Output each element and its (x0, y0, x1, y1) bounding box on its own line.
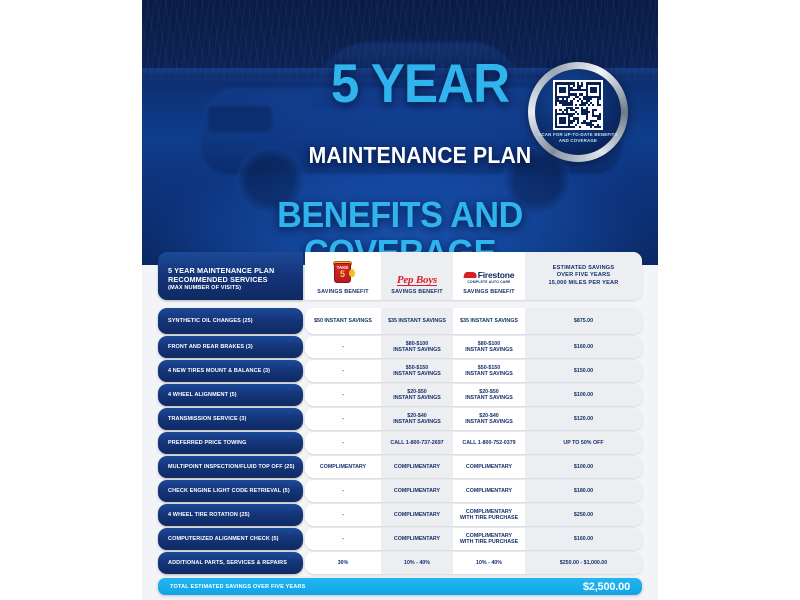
cell-take5: - (305, 360, 381, 382)
hero-title-sub: MAINTENANCE PLAN (284, 143, 556, 167)
table-row: FRONT AND REAR BRAKES (3)-$80-$100INSTAN… (142, 336, 658, 358)
cell-estimated-savings: $150.00 (525, 360, 642, 382)
table-row: TRANSMISSION SERVICE (3)-$20-$40INSTANT … (142, 408, 658, 430)
row-service-label: PREFERRED PRICE TOWING (158, 432, 303, 454)
cell-firestone: COMPLIMENTARY (453, 480, 525, 502)
row-service-label: COMPUTERIZED ALIGNMENT CHECK (5) (158, 528, 303, 550)
table-row: SYNTHETIC OIL CHANGES (25)$50 INSTANT SA… (142, 308, 658, 334)
table-row: PREFERRED PRICE TOWING-CALL 1-800-737-26… (142, 432, 658, 454)
table-row: CHECK ENGINE LIGHT CODE RETRIEVAL (5)-CO… (142, 480, 658, 502)
cell-pepboys: 10% - 40% (381, 552, 453, 574)
cell-pepboys: $20-$40INSTANT SAVINGS (381, 408, 453, 430)
header-col-estimated-savings: ESTIMATED SAVINGS OVER FIVE YEARS 15,000… (525, 252, 642, 300)
total-savings-label: TOTAL ESTIMATED SAVINGS OVER FIVE YEARS (170, 584, 306, 590)
cell-take5: - (305, 528, 381, 550)
row-values: -CALL 1-800-737-2697CALL 1-800-752-0379U… (305, 432, 642, 454)
row-values: -$20-$50INSTANT SAVINGS$20-$50INSTANT SA… (305, 384, 642, 406)
cell-firestone: COMPLIMENTARYWITH TIRE PURCHASE (453, 528, 525, 550)
header-caption-firestone: SAVINGS BENEFIT (463, 289, 514, 295)
row-values: COMPLIMENTARYCOMPLIMENTARYCOMPLIMENTARY$… (305, 456, 642, 478)
table-row: 4 NEW TIRES MOUNT & BALANCE (3)-$50-$150… (142, 360, 658, 382)
row-values: -COMPLIMENTARYCOMPLIMENTARYWITH TIRE PUR… (305, 504, 642, 526)
header-service-line2: RECOMMENDED SERVICES (168, 275, 268, 284)
row-service-label: 4 NEW TIRES MOUNT & BALANCE (3) (158, 360, 303, 382)
cell-firestone: 10% - 40% (453, 552, 525, 574)
cell-pepboys: COMPLIMENTARY (381, 480, 453, 502)
cell-pepboys: COMPLIMENTARY (381, 528, 453, 550)
cell-firestone: $20-$40INSTANT SAVINGS (453, 408, 525, 430)
header-col-firestone: Firestone COMPLETE AUTO CARE SAVINGS BEN… (453, 252, 525, 300)
cell-take5: - (305, 336, 381, 358)
cell-estimated-savings: $100.00 (525, 456, 642, 478)
table-row: ADDITIONAL PARTS, SERVICES & REPAIRS30%1… (142, 552, 658, 574)
header-service-column: 5 YEAR MAINTENANCE PLAN RECOMMENDED SERV… (158, 252, 303, 300)
header-caption-pepboys: SAVINGS BENEFIT (391, 289, 442, 295)
row-service-label: SYNTHETIC OIL CHANGES (25) (158, 308, 303, 334)
table-header-row: 5 YEAR MAINTENANCE PLAN RECOMMENDED SERV… (142, 252, 658, 300)
row-values: -$50-$150INSTANT SAVINGS$50-$150INSTANT … (305, 360, 642, 382)
cell-take5: - (305, 432, 381, 454)
header-caption-estimated-savings: ESTIMATED SAVINGS OVER FIVE YEARS 15,000… (548, 265, 618, 287)
cell-estimated-savings: $160.00 (525, 528, 642, 550)
cell-firestone: COMPLIMENTARY (453, 456, 525, 478)
cell-pepboys: COMPLIMENTARY (381, 456, 453, 478)
row-values: -$80-$100INSTANT SAVINGS$80-$100INSTANT … (305, 336, 642, 358)
table-row: MULTIPOINT INSPECTION/FLUID TOP OFF (25)… (142, 456, 658, 478)
cell-pepboys: $80-$100INSTANT SAVINGS (381, 336, 453, 358)
row-service-label: CHECK ENGINE LIGHT CODE RETRIEVAL (5) (158, 480, 303, 502)
cell-estimated-savings: $180.00 (525, 480, 642, 502)
cell-take5: - (305, 504, 381, 526)
firestone-logo-word: Firestone (478, 272, 514, 278)
row-values: -$20-$40INSTANT SAVINGS$20-$40INSTANT SA… (305, 408, 642, 430)
cell-take5: 30% (305, 552, 381, 574)
table-row: 4 WHEEL TIRE ROTATION (25)-COMPLIMENTARY… (142, 504, 658, 526)
row-values: $50 INSTANT SAVINGS$35 INSTANT SAVINGS$3… (305, 308, 642, 334)
take5-logo-number: 5 (335, 270, 350, 279)
row-service-label: ADDITIONAL PARTS, SERVICES & REPAIRS (158, 552, 303, 574)
header-provider-columns: TAKE 5 SAVINGS BENEFIT Pep Boys SAVINGS … (305, 252, 642, 300)
total-savings-value: $2,500.00 (583, 581, 630, 593)
take-5-oil-change-logo-icon: TAKE 5 (330, 260, 356, 286)
row-values: 30%10% - 40%10% - 40%$250.00 - $1,000.00 (305, 552, 642, 574)
row-values: -COMPLIMENTARYCOMPLIMENTARY$180.00 (305, 480, 642, 502)
firestone-logo-icon: Firestone COMPLETE AUTO CARE (464, 272, 514, 285)
header-service-line1: 5 YEAR MAINTENANCE PLAN (168, 266, 274, 275)
row-service-label: TRANSMISSION SERVICE (3) (158, 408, 303, 430)
cell-estimated-savings: $250.00 (525, 504, 642, 526)
hero-banner: 5 YEAR MAINTENANCE PLAN BENEFITS AND COV… (142, 0, 658, 265)
hero-title-main: 5 YEAR (299, 56, 541, 110)
cell-estimated-savings: $120.00 (525, 408, 642, 430)
cell-firestone: $35 INSTANT SAVINGS (453, 308, 525, 334)
qr-code-icon[interactable] (553, 80, 603, 130)
firestone-swoosh-icon (463, 272, 477, 278)
pep-boys-logo-icon: Pep Boys (397, 277, 437, 285)
cell-pepboys: COMPLIMENTARY (381, 504, 453, 526)
cell-estimated-savings: $100.00 (525, 384, 642, 406)
cell-take5: - (305, 384, 381, 406)
table-row: 4 WHEEL ALIGNMENT (5)-$20-$50INSTANT SAV… (142, 384, 658, 406)
cell-firestone: CALL 1-800-752-0379 (453, 432, 525, 454)
cell-pepboys: $20-$50INSTANT SAVINGS (381, 384, 453, 406)
cell-take5: COMPLIMENTARY (305, 456, 381, 478)
row-service-label: 4 WHEEL ALIGNMENT (5) (158, 384, 303, 406)
maintenance-plan-poster: 5 YEAR MAINTENANCE PLAN BENEFITS AND COV… (142, 0, 658, 600)
total-savings-bar: TOTAL ESTIMATED SAVINGS OVER FIVE YEARS … (158, 578, 642, 595)
row-values: -COMPLIMENTARYCOMPLIMENTARYWITH TIRE PUR… (305, 528, 642, 550)
cell-estimated-savings: $160.00 (525, 336, 642, 358)
header-service-line3: (MAX NUMBER OF VISITS) (168, 284, 241, 293)
cell-take5: $50 INSTANT SAVINGS (305, 308, 381, 334)
cell-firestone: $20-$50INSTANT SAVINGS (453, 384, 525, 406)
cell-pepboys: $50-$150INSTANT SAVINGS (381, 360, 453, 382)
cell-pepboys: CALL 1-800-737-2697 (381, 432, 453, 454)
cell-take5: - (305, 408, 381, 430)
qr-caption: SCAN FOR UP-TO-DATE BENEFITS AND COVERAG… (537, 132, 619, 143)
cell-estimated-savings: $875.00 (525, 308, 642, 334)
header-col-pepboys: Pep Boys SAVINGS BENEFIT (381, 252, 453, 300)
cell-firestone: $80-$100INSTANT SAVINGS (453, 336, 525, 358)
table-row: COMPUTERIZED ALIGNMENT CHECK (5)-COMPLIM… (142, 528, 658, 550)
firestone-logo-subtext: COMPLETE AUTO CARE (467, 279, 510, 285)
header-caption-take5: SAVINGS BENEFIT (317, 289, 368, 295)
row-service-label: 4 WHEEL TIRE ROTATION (25) (158, 504, 303, 526)
qr-code-badge[interactable]: SCAN FOR UP-TO-DATE BENEFITS AND COVERAG… (528, 62, 628, 162)
cell-pepboys: $35 INSTANT SAVINGS (381, 308, 453, 334)
row-service-label: FRONT AND REAR BRAKES (3) (158, 336, 303, 358)
row-service-label: MULTIPOINT INSPECTION/FLUID TOP OFF (25) (158, 456, 303, 478)
cell-firestone: $50-$150INSTANT SAVINGS (453, 360, 525, 382)
cell-estimated-savings: $250.00 - $1,000.00 (525, 552, 642, 574)
cell-take5: - (305, 480, 381, 502)
cell-firestone: COMPLIMENTARYWITH TIRE PURCHASE (453, 504, 525, 526)
header-col-take5: TAKE 5 SAVINGS BENEFIT (305, 252, 381, 300)
cell-estimated-savings: UP TO 50% OFF (525, 432, 642, 454)
